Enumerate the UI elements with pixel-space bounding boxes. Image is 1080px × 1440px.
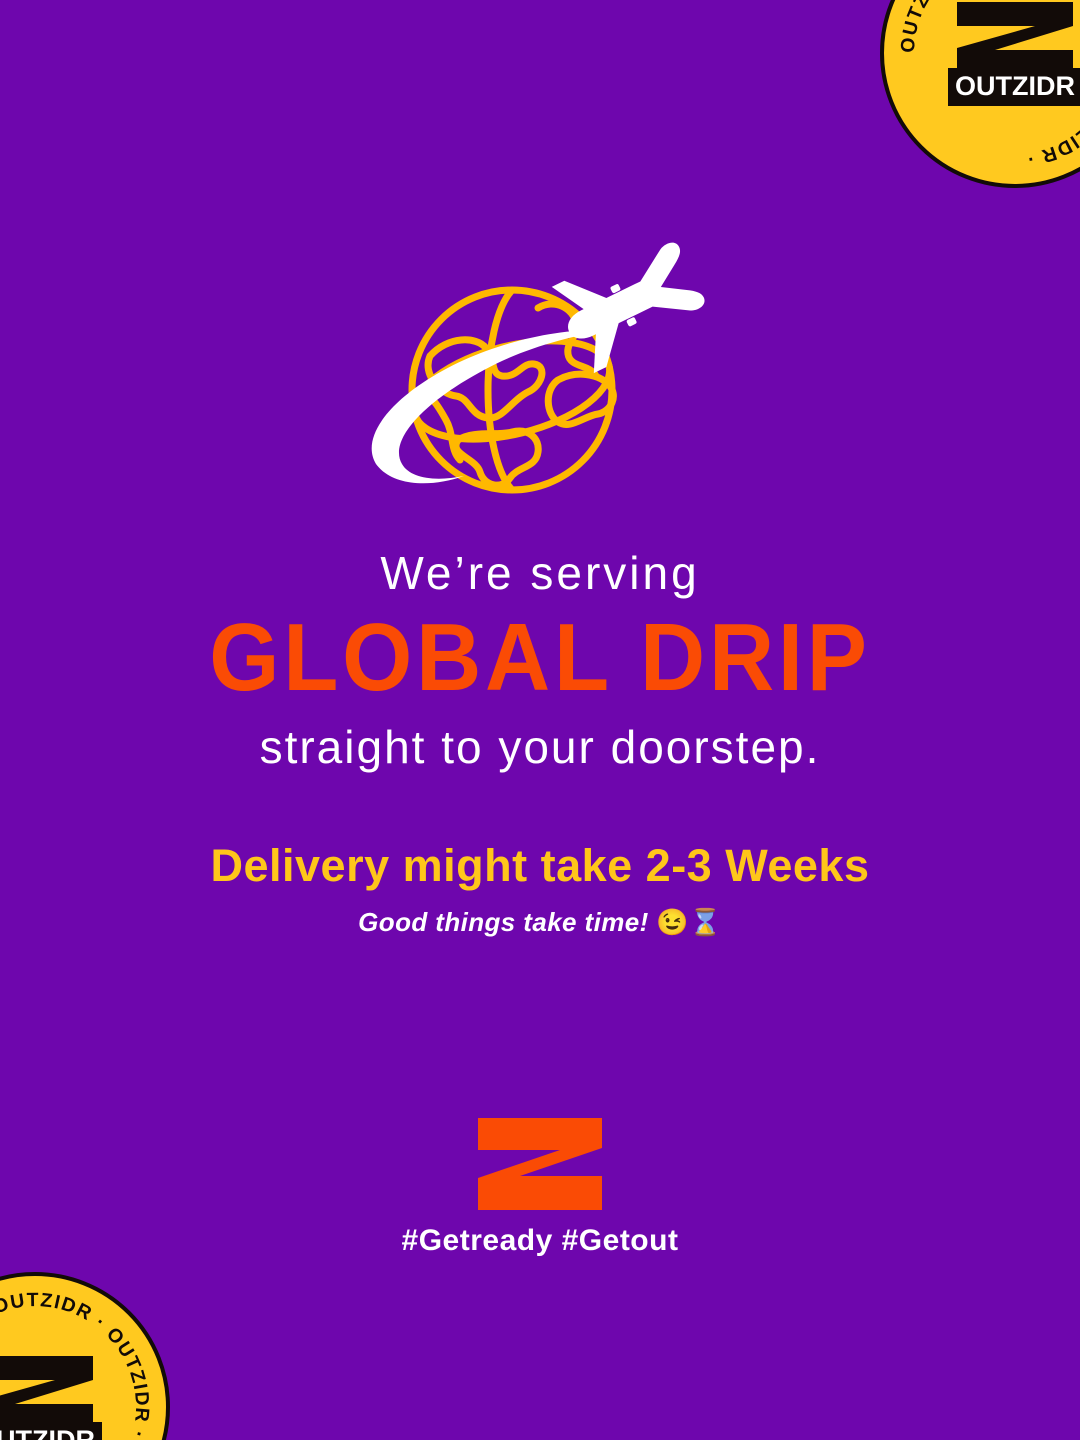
brand-badge-bottom-left: OUTZIDR · OUTZIDR · OUTZIDR · OUTZIDR · … [0,1272,170,1440]
badge-core-top-right: OUTZIDR [939,0,1080,106]
z-monogram-icon [951,0,1079,74]
eyebrow-text: We’re serving [0,548,1080,600]
tagline-text: Good things take time! [358,907,648,937]
badge-core-bottom-left: OUTZIDR [0,1354,111,1440]
wink-hourglass-emoji: 😉⌛ [656,907,722,937]
globe-airplane-illustration [352,278,712,508]
subhead-text: straight to your doorstep. [0,722,1080,774]
poster-canvas: OUTZIDR · OUTZIDR · OUTZIDR · OUTZIDR · … [0,0,1080,1440]
z-monogram-icon [0,1354,99,1428]
airplane-icon [548,229,712,375]
tagline-row: Good things take time! 😉⌛ [0,907,1080,938]
copy-block: We’re serving GLOBAL DRIP straight to yo… [0,548,1080,938]
hashtags-text: #Getready #Getout [0,1224,1080,1258]
delivery-notice-text: Delivery might take 2-3 Weeks [0,841,1080,891]
badge-wordmark: OUTZIDR [948,68,1080,106]
brand-badge-top-right: OUTZIDR · OUTZIDR · OUTZIDR · OUTZIDR · … [880,0,1080,188]
footer-block: #Getready #Getout [0,1118,1080,1258]
headline-text: GLOBAL DRIP [32,610,1047,706]
badge-wordmark: OUTZIDR [0,1422,102,1440]
z-logo-icon [478,1118,602,1210]
